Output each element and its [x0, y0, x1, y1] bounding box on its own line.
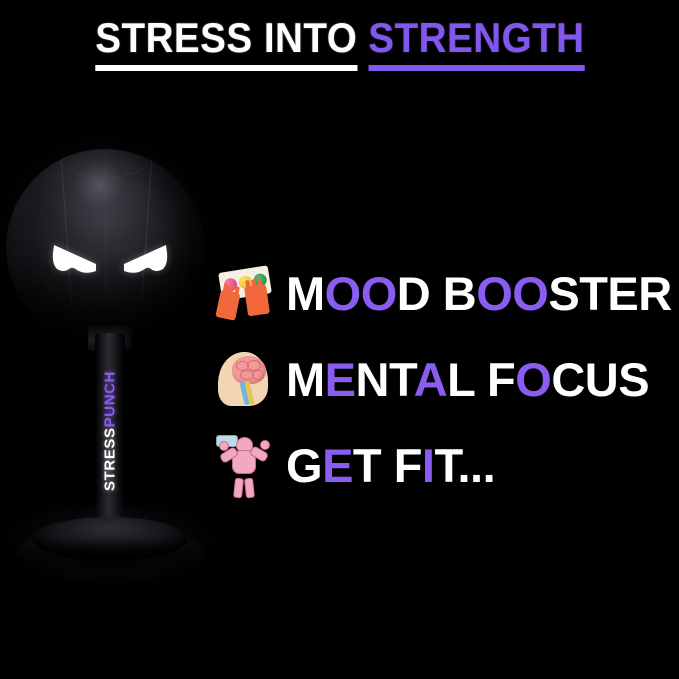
title-text: STRESS INTOSTRENGTH: [95, 16, 584, 71]
brand-label-stress: STRESS: [102, 427, 119, 491]
feature-row-mental-focus: MENTAL FOCUS: [216, 336, 679, 422]
seg: L F: [447, 353, 515, 406]
poster-title: STRESS INTOSTRENGTH: [0, 16, 679, 71]
seg: O: [515, 353, 551, 406]
feature-list: MOOD BOOSTER MENTAL FOCUS: [216, 250, 679, 508]
seg: M: [286, 267, 325, 320]
seg: E: [322, 439, 353, 492]
bb-fist-right: [260, 440, 270, 450]
seg: NT: [356, 353, 414, 406]
bb-fist-left: [219, 441, 229, 451]
angry-eye-right-icon: [118, 231, 168, 275]
brand-label: STRESSPUNCH: [103, 371, 118, 491]
product-poster: STRESS INTOSTRENGTH STRESSPUNCH: [0, 0, 679, 679]
feature-row-get-fit: GET FIT...: [216, 422, 679, 508]
title-white-segment: STRESS INTO: [95, 16, 357, 71]
seg: OO: [476, 267, 548, 320]
control-knobs-icon: [216, 261, 278, 323]
seg: STER: [548, 267, 671, 320]
seg: D B: [397, 267, 476, 320]
angry-eye-left-icon: [52, 231, 102, 275]
feature-label-mood-booster: MOOD BOOSTER: [286, 270, 672, 317]
hand-left: [215, 289, 240, 321]
hand-right: [244, 284, 270, 317]
seg: A: [414, 353, 447, 406]
bb-leg-left: [233, 478, 244, 499]
seg: M: [286, 353, 325, 406]
bb-leg-right: [244, 478, 255, 499]
flexing-bodybuilder-icon: [216, 435, 278, 497]
base-shadow: [4, 541, 216, 583]
angry-eyes: [52, 231, 168, 277]
title-purple-segment: STRENGTH: [368, 16, 584, 71]
seg: OO: [325, 267, 397, 320]
seg: T...: [434, 439, 495, 492]
seg: G: [286, 439, 322, 492]
seg: T F: [353, 439, 422, 492]
brain: [232, 356, 266, 384]
feature-row-mood-booster: MOOD BOOSTER: [216, 250, 679, 336]
brand-label-punch: PUNCH: [102, 371, 119, 427]
feature-label-get-fit: GET FIT...: [286, 442, 495, 489]
feature-label-mental-focus: MENTAL FOCUS: [286, 356, 649, 403]
ball-top-cap: [57, 149, 152, 178]
seg: E: [325, 353, 356, 406]
product-image: STRESSPUNCH: [0, 135, 220, 585]
seg: CUS: [551, 353, 649, 406]
seg: I: [422, 439, 435, 492]
brain-head-icon: [216, 348, 278, 410]
